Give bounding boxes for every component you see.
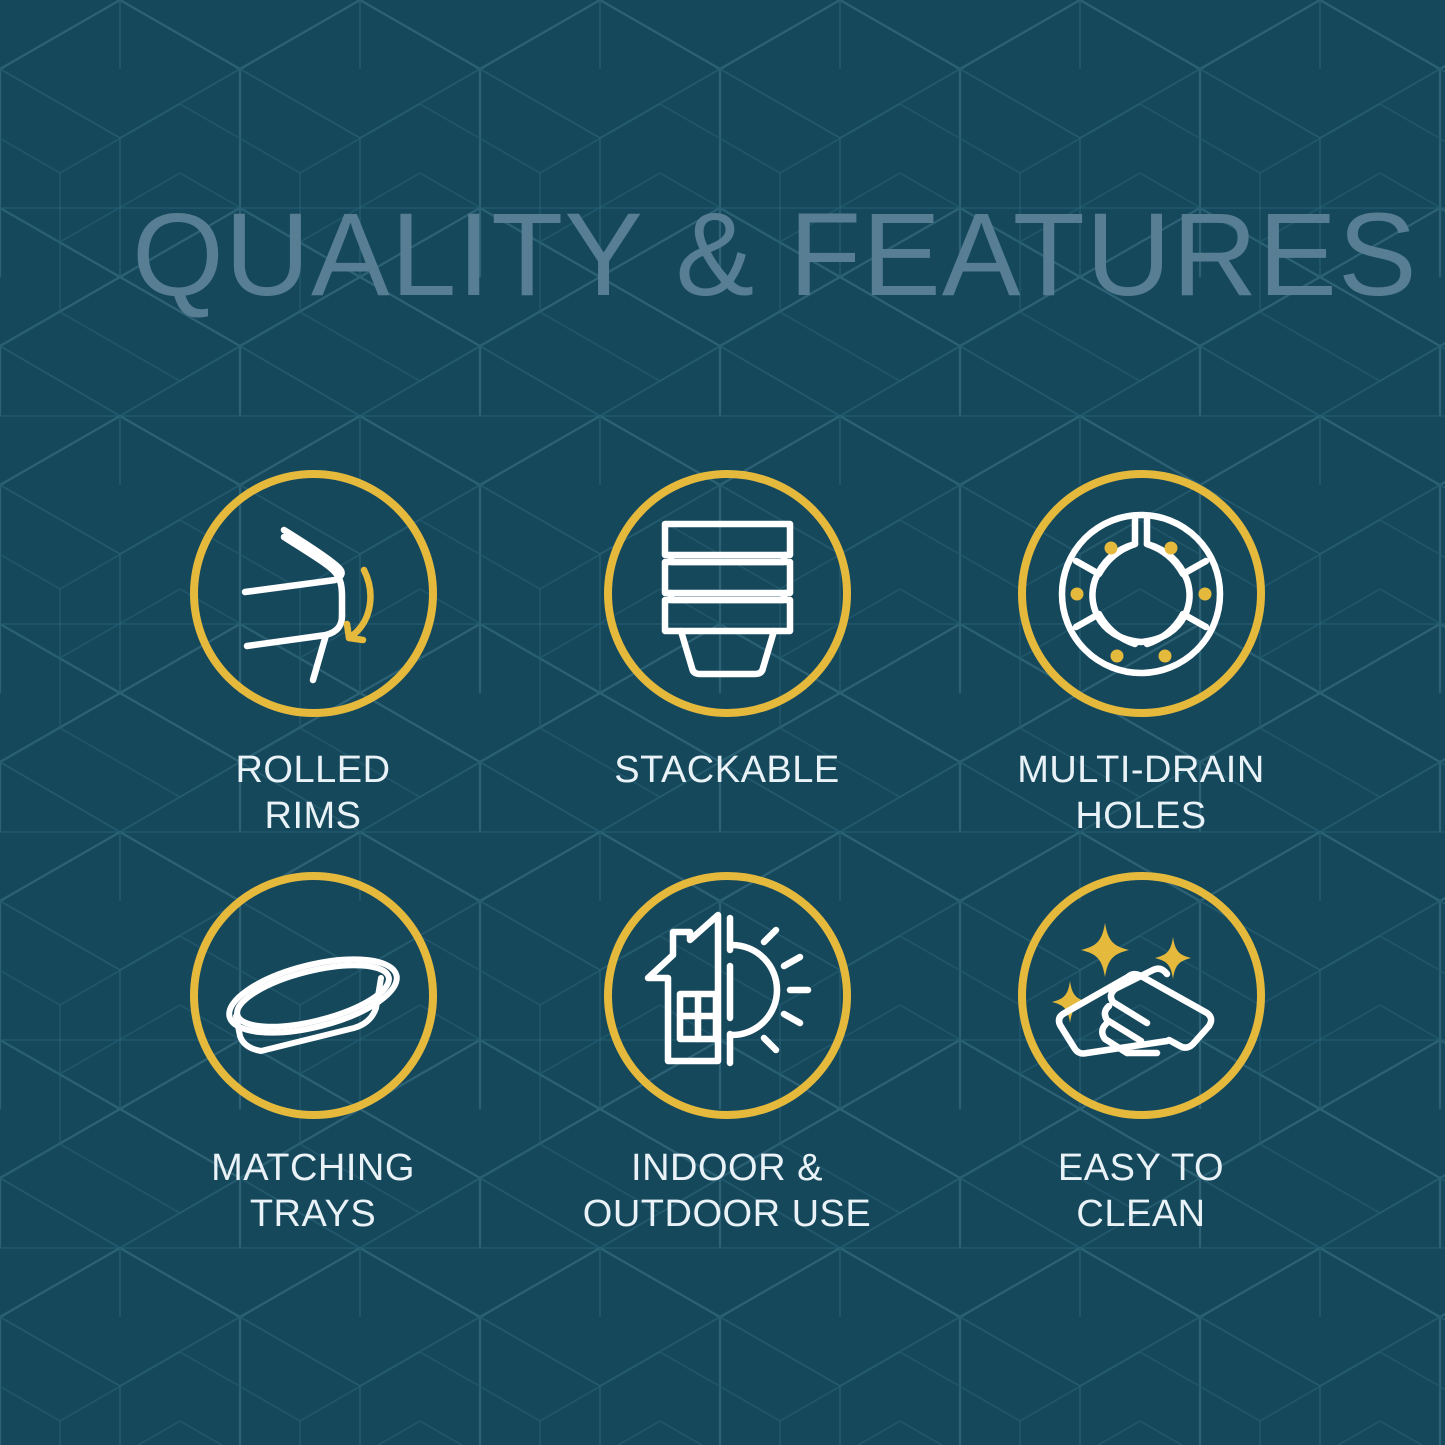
rolled-rim-icon [223, 504, 403, 684]
feature-label: MULTI-DRAIN HOLES [1017, 747, 1265, 839]
feature-infographic-panel: QUALITY & FEATURES [0, 0, 1445, 1445]
feature-item-multi-drain-holes[interactable]: MULTI-DRAIN HOLES [934, 470, 1348, 872]
feature-row-1: ROLLED RIMS [0, 470, 1445, 872]
feature-item-rolled-rims[interactable]: ROLLED RIMS [106, 470, 520, 872]
feature-label: STACKABLE [614, 747, 840, 793]
feature-label: INDOOR & OUTDOOR USE [583, 1145, 871, 1237]
feature-label: ROLLED RIMS [235, 747, 390, 839]
feature-badge-stackable [604, 470, 851, 717]
stacked-pots-icon [640, 506, 815, 681]
hand-wipe-sparkle-icon [1049, 903, 1234, 1088]
feature-label: MATCHING TRAYS [211, 1145, 415, 1237]
house-sun-icon [640, 908, 815, 1083]
feature-badge-indoor-outdoor-use [604, 872, 851, 1119]
drain-holes-icon [1051, 504, 1231, 684]
feature-item-stackable[interactable]: STACKABLE [520, 470, 934, 872]
feature-badge-multi-drain-holes [1018, 470, 1265, 717]
feature-label: EASY TO CLEAN [1058, 1145, 1224, 1237]
feature-item-indoor-outdoor-use[interactable]: INDOOR & OUTDOOR USE [520, 872, 934, 1272]
feature-item-matching-trays[interactable]: MATCHING TRAYS [106, 872, 520, 1272]
feature-row-2: MATCHING TRAYS [0, 872, 1445, 1272]
feature-badge-rolled-rims [190, 470, 437, 717]
feature-grid: ROLLED RIMS [0, 470, 1445, 1272]
feature-item-easy-to-clean[interactable]: EASY TO CLEAN [934, 872, 1348, 1272]
feature-badge-matching-trays [190, 872, 437, 1119]
feature-badge-easy-to-clean [1018, 872, 1265, 1119]
page-title: QUALITY & FEATURES [132, 196, 1352, 314]
tray-saucer-icon [213, 896, 413, 1096]
